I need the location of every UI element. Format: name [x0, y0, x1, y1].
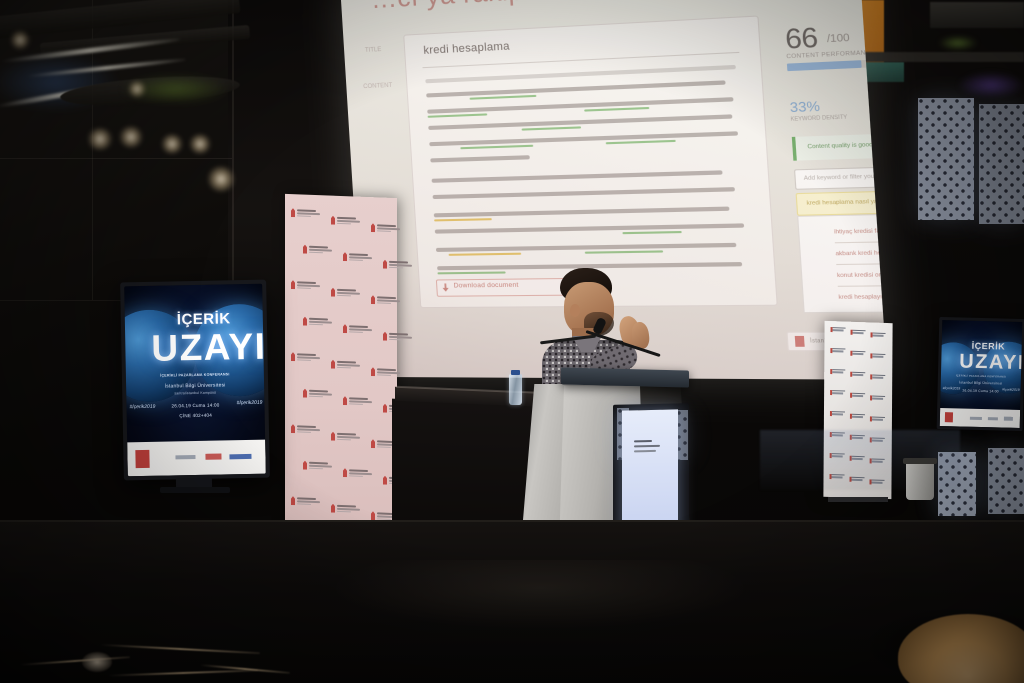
left-poster-line2: UZAYI [151, 326, 266, 370]
left-poster-hashtag-right: #İçerik2019 [237, 400, 263, 406]
right-monitor-screen: İÇERİK UZAYI İÇERİKLİ PAZARLAMA KONFERAN… [940, 320, 1023, 428]
water-bottle [509, 374, 522, 405]
speaker-ear [570, 304, 580, 317]
cable-coil [82, 652, 112, 672]
download-icon [442, 283, 449, 291]
right-poster-line2: UZAYI [959, 350, 1022, 375]
right-poster-footer [940, 408, 1020, 428]
trash-bin-lid [903, 458, 937, 464]
card-content-label: CONTENT [363, 83, 392, 90]
suggestion-item[interactable]: kredi hesaplayıcı [838, 294, 887, 301]
slide-result-card: TITLE CONTENT kredi hesaplama [403, 15, 778, 308]
rollup-banner-base [828, 497, 888, 502]
card-query-text: kredi hesaplama [423, 40, 510, 57]
right-poster: İÇERİK UZAYI İÇERİKLİ PAZARLAMA KONFERAN… [940, 320, 1023, 428]
kpi-keyword-density: 33% KEYWORD DENSITY [789, 97, 820, 118]
content-score-value: 66 [784, 21, 818, 56]
patterned-wall-panel [918, 98, 974, 220]
podium-top-surface [561, 367, 689, 387]
right-poster-hashtag-right: #İçerik2019 [1002, 388, 1020, 392]
patterned-wall-panel-2 [979, 104, 1024, 224]
suggestion-item[interactable]: konut kredisi oranları [837, 272, 888, 279]
purple-ceiling-light [958, 72, 1024, 98]
slide-title: …cı ya rakipler? [370, 0, 687, 15]
podium-sign-logo [634, 440, 668, 459]
stage-floor-edge [0, 520, 1024, 522]
trash-bin [906, 462, 934, 500]
stage-floor-sheen [330, 560, 750, 630]
highlighted-keyword-text: kredi hesaplama nasıl yapılır [806, 198, 887, 206]
card-title-label: TITLE [365, 47, 382, 54]
ceiling-vent [930, 2, 1024, 28]
water-bottle-cap [511, 370, 520, 375]
keyword-suggestion-list: ihtiyaç kredisi faiz akbank kredi hesapl… [797, 211, 887, 313]
patterned-wall-panel-4 [988, 448, 1024, 514]
left-monitor-screen: İÇERİK UZAYI İÇERİKLİ PAZARLAMA KONFERAN… [124, 284, 266, 477]
score-progress-fill [787, 60, 862, 71]
download-button-label: Download document [453, 282, 518, 290]
left-monitor: İÇERİK UZAYI İÇERİKLİ PAZARLAMA KONFERAN… [120, 280, 270, 481]
left-poster-hashtag-left: #İçerik2019 [129, 404, 155, 410]
right-poster-hashtag-left: #İçerik2019 [943, 386, 961, 390]
content-score-unit: /100 [827, 32, 851, 45]
left-poster-date: 26.04.19 Cuma 14:00 [150, 402, 240, 409]
university-logo-icon [795, 336, 805, 347]
left-poster: İÇERİK UZAYI İÇERİKLİ PAZARLAMA KONFERAN… [124, 284, 266, 477]
backdrop-banner [285, 194, 397, 542]
left-poster-time-detail: ÇİNE 402+404 [151, 412, 241, 419]
conference-photo: …cı ya rakipler? TITLE CONTENT kredi hes… [0, 0, 1024, 683]
suggestion-item[interactable]: ihtiyaç kredisi faiz [834, 228, 885, 235]
left-poster-venue-sub: santralistanbul Kampüsü [150, 390, 240, 396]
left-monitor-foot [160, 487, 230, 493]
right-monitor: İÇERİK UZAYI İÇERİKLİ PAZARLAMA KONFERAN… [937, 317, 1024, 431]
ceiling-reflection-group [0, 0, 240, 210]
highlighted-keyword-row[interactable]: kredi hesaplama nasıl yapılır [796, 188, 888, 216]
green-ceiling-light [938, 36, 978, 50]
kpi-value: 33% [789, 98, 820, 115]
left-poster-footer [127, 440, 266, 477]
kpi-label: KEYWORD DENSITY [790, 114, 847, 123]
